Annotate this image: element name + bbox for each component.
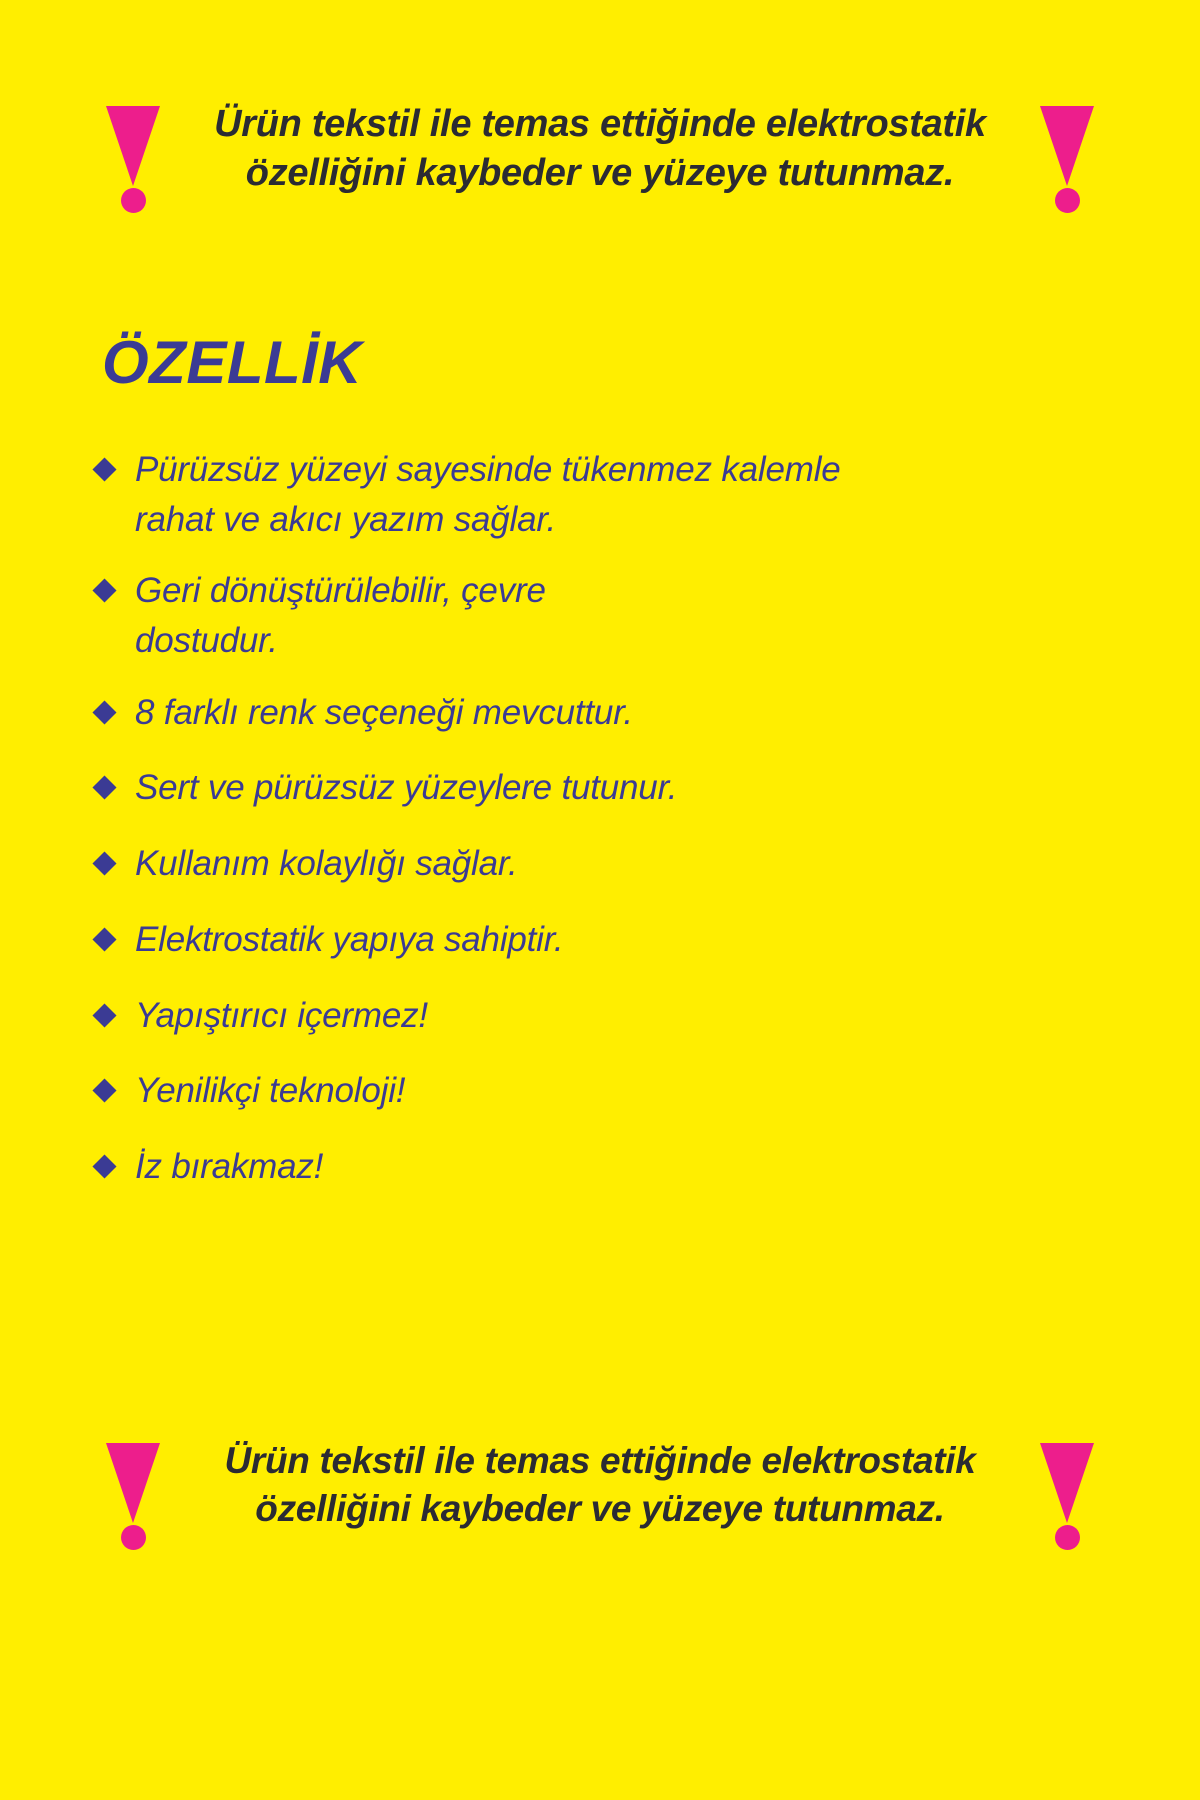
exclamation-mark-icon bbox=[104, 106, 162, 213]
exclamation-mark-icon bbox=[1038, 106, 1096, 213]
list-item: Yapıştırıcı içermez! bbox=[96, 991, 1110, 1041]
diamond-bullet-icon bbox=[92, 927, 116, 951]
exclamation-mark-icon bbox=[104, 1443, 162, 1550]
diamond-bullet-icon bbox=[92, 1154, 116, 1178]
top-warning-banner: Ürün tekstil ile temas ettiğinde elektro… bbox=[0, 100, 1200, 213]
bottom-warning-banner: Ürün tekstil ile temas ettiğinde elektro… bbox=[0, 1437, 1200, 1550]
list-item: Elektrostatik yapıya sahiptir. bbox=[96, 915, 1110, 965]
list-item: İz bırakmaz! bbox=[96, 1142, 1110, 1192]
diamond-bullet-icon bbox=[92, 1003, 116, 1027]
exclamation-triangle-shape bbox=[1040, 106, 1094, 186]
feature-text: Yapıştırıcı içermez! bbox=[135, 991, 428, 1041]
list-item: 8 farklı renk seçeneği mevcuttur. bbox=[96, 688, 1110, 738]
diamond-bullet-icon bbox=[92, 457, 116, 481]
feature-text: Geri dönüştürülebilir, çevre dostudur. bbox=[135, 566, 565, 665]
exclamation-mark-icon bbox=[1038, 1443, 1096, 1550]
list-item: Pürüzsüz yüzeyi sayesinde tükenmez kalem… bbox=[96, 445, 1110, 544]
feature-text: Pürüzsüz yüzeyi sayesinde tükenmez kalem… bbox=[135, 445, 895, 544]
diamond-bullet-icon bbox=[92, 579, 116, 603]
list-item: Geri dönüştürülebilir, çevre dostudur. bbox=[96, 566, 1110, 665]
feature-list: Pürüzsüz yüzeyi sayesinde tükenmez kalem… bbox=[0, 445, 1200, 1218]
feature-text: Kullanım kolaylığı sağlar. bbox=[135, 839, 518, 889]
list-item: Sert ve pürüzsüz yüzeylere tutunur. bbox=[96, 763, 1110, 813]
diamond-bullet-icon bbox=[92, 1079, 116, 1103]
diamond-bullet-icon bbox=[92, 776, 116, 800]
feature-text: Elektrostatik yapıya sahiptir. bbox=[135, 915, 563, 965]
exclamation-triangle-shape bbox=[1040, 1443, 1094, 1523]
feature-text: İz bırakmaz! bbox=[135, 1142, 323, 1192]
feature-card: Ürün tekstil ile temas ettiğinde elektro… bbox=[0, 0, 1200, 1800]
page-title: ÖZELLİK bbox=[102, 333, 1200, 393]
exclamation-dot-shape bbox=[121, 188, 146, 213]
feature-text: 8 farklı renk seçeneği mevcuttur. bbox=[135, 688, 633, 738]
exclamation-dot-shape bbox=[121, 1525, 146, 1550]
list-item: Kullanım kolaylığı sağlar. bbox=[96, 839, 1110, 889]
top-warning-text: Ürün tekstil ile temas ettiğinde elektro… bbox=[180, 100, 1020, 199]
exclamation-dot-shape bbox=[1055, 1525, 1080, 1550]
exclamation-triangle-shape bbox=[106, 106, 160, 186]
feature-text: Yenilikçi teknoloji! bbox=[135, 1066, 405, 1116]
feature-text: Sert ve pürüzsüz yüzeylere tutunur. bbox=[135, 763, 677, 813]
diamond-bullet-icon bbox=[92, 700, 116, 724]
exclamation-triangle-shape bbox=[106, 1443, 160, 1523]
bottom-warning-text: Ürün tekstil ile temas ettiğinde elektro… bbox=[180, 1437, 1020, 1533]
list-item: Yenilikçi teknoloji! bbox=[96, 1066, 1110, 1116]
exclamation-dot-shape bbox=[1055, 188, 1080, 213]
diamond-bullet-icon bbox=[92, 852, 116, 876]
